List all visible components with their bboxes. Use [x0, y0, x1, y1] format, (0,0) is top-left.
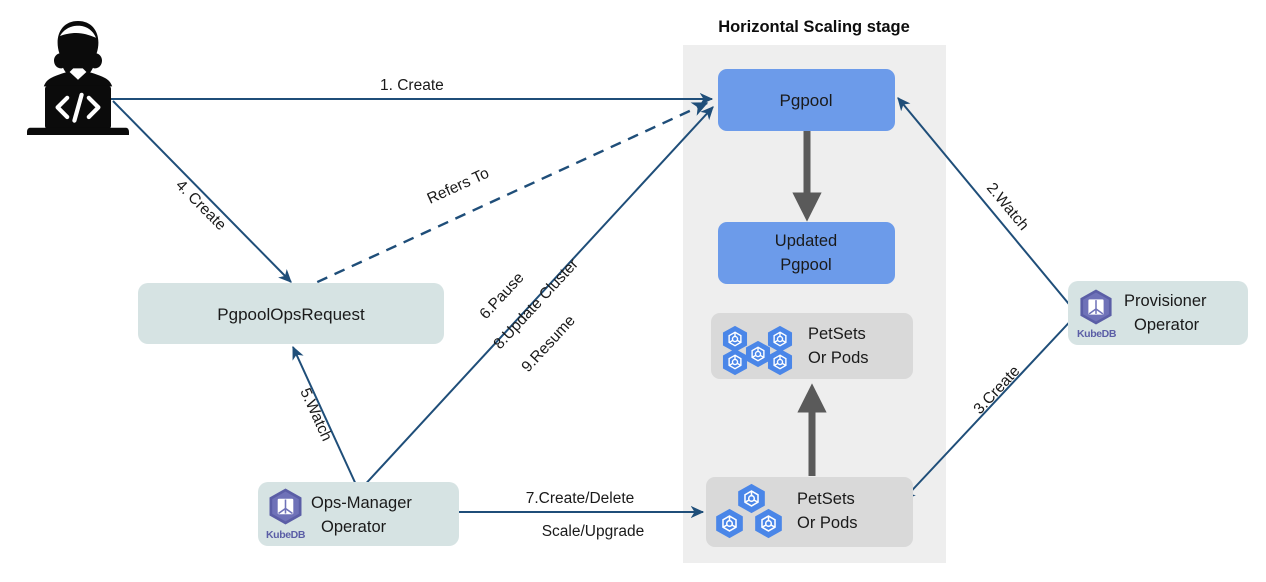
pgpool-ops-request-node[interactable]: PgpoolOpsRequest — [138, 283, 444, 344]
edge-create-opsrequest — [113, 101, 291, 282]
edge-label-create-petsets: 3.Create — [970, 363, 1023, 418]
petsets-top-label-line2: Or Pods — [808, 349, 869, 367]
edge-label-scale-upgrade: Scale/Upgrade — [542, 523, 645, 540]
edge-label-watch-pgpool: 2.Watch — [983, 180, 1032, 234]
petsets-top-node[interactable]: PetSets Or Pods — [711, 313, 913, 379]
edge-label-create-opsrequest: 4. Create — [172, 177, 229, 234]
edge-refers-to — [300, 103, 707, 290]
updated-pgpool-node[interactable]: Updated Pgpool — [718, 222, 895, 284]
provisioner-operator-label-line1: Provisioner — [1124, 292, 1207, 310]
petsets-bottom-label-line2: Or Pods — [797, 514, 858, 532]
edge-label-watch-opsrequest: 5.Watch — [296, 386, 335, 444]
stage-title: Horizontal Scaling stage — [718, 18, 910, 36]
ops-manager-operator-node[interactable]: KubeDB Ops-Manager Operator — [258, 482, 459, 546]
edge-label-create-pgpool: 1. Create — [380, 77, 444, 94]
ops-manager-operator-label-line1: Ops-Manager — [311, 494, 412, 512]
developer-node — [27, 21, 129, 137]
provisioner-operator-label-line2: Operator — [1134, 316, 1200, 334]
pgpool-ops-request-label: PgpoolOpsRequest — [217, 305, 365, 324]
kubedb-wordmark: KubeDB — [1077, 328, 1117, 340]
petsets-bottom-node[interactable]: PetSets Or Pods — [706, 477, 913, 547]
pgpool-label: Pgpool — [780, 91, 833, 110]
petsets-bottom-label-line1: PetSets — [797, 490, 855, 508]
developer-laptop-icon — [27, 21, 129, 137]
horizontal-scaling-diagram: Horizontal Scaling stage 1. Create 4. Cr… — [0, 0, 1266, 582]
updated-pgpool-label-line2: Pgpool — [780, 256, 831, 274]
pgpool-node[interactable]: Pgpool — [718, 69, 895, 131]
provisioner-operator-node[interactable]: KubeDB Provisioner Operator — [1068, 281, 1248, 345]
kubedb-wordmark: KubeDB — [266, 529, 306, 541]
edge-label-refers-to: Refers To — [425, 165, 492, 208]
diagram-canvas: Horizontal Scaling stage 1. Create 4. Cr… — [0, 0, 1266, 582]
petsets-top-label-line1: PetSets — [808, 325, 866, 343]
edge-label-create-delete: 7.Create/Delete — [526, 490, 635, 507]
ops-manager-operator-label-line2: Operator — [321, 518, 387, 536]
updated-pgpool-label-line1: Updated — [775, 232, 837, 250]
